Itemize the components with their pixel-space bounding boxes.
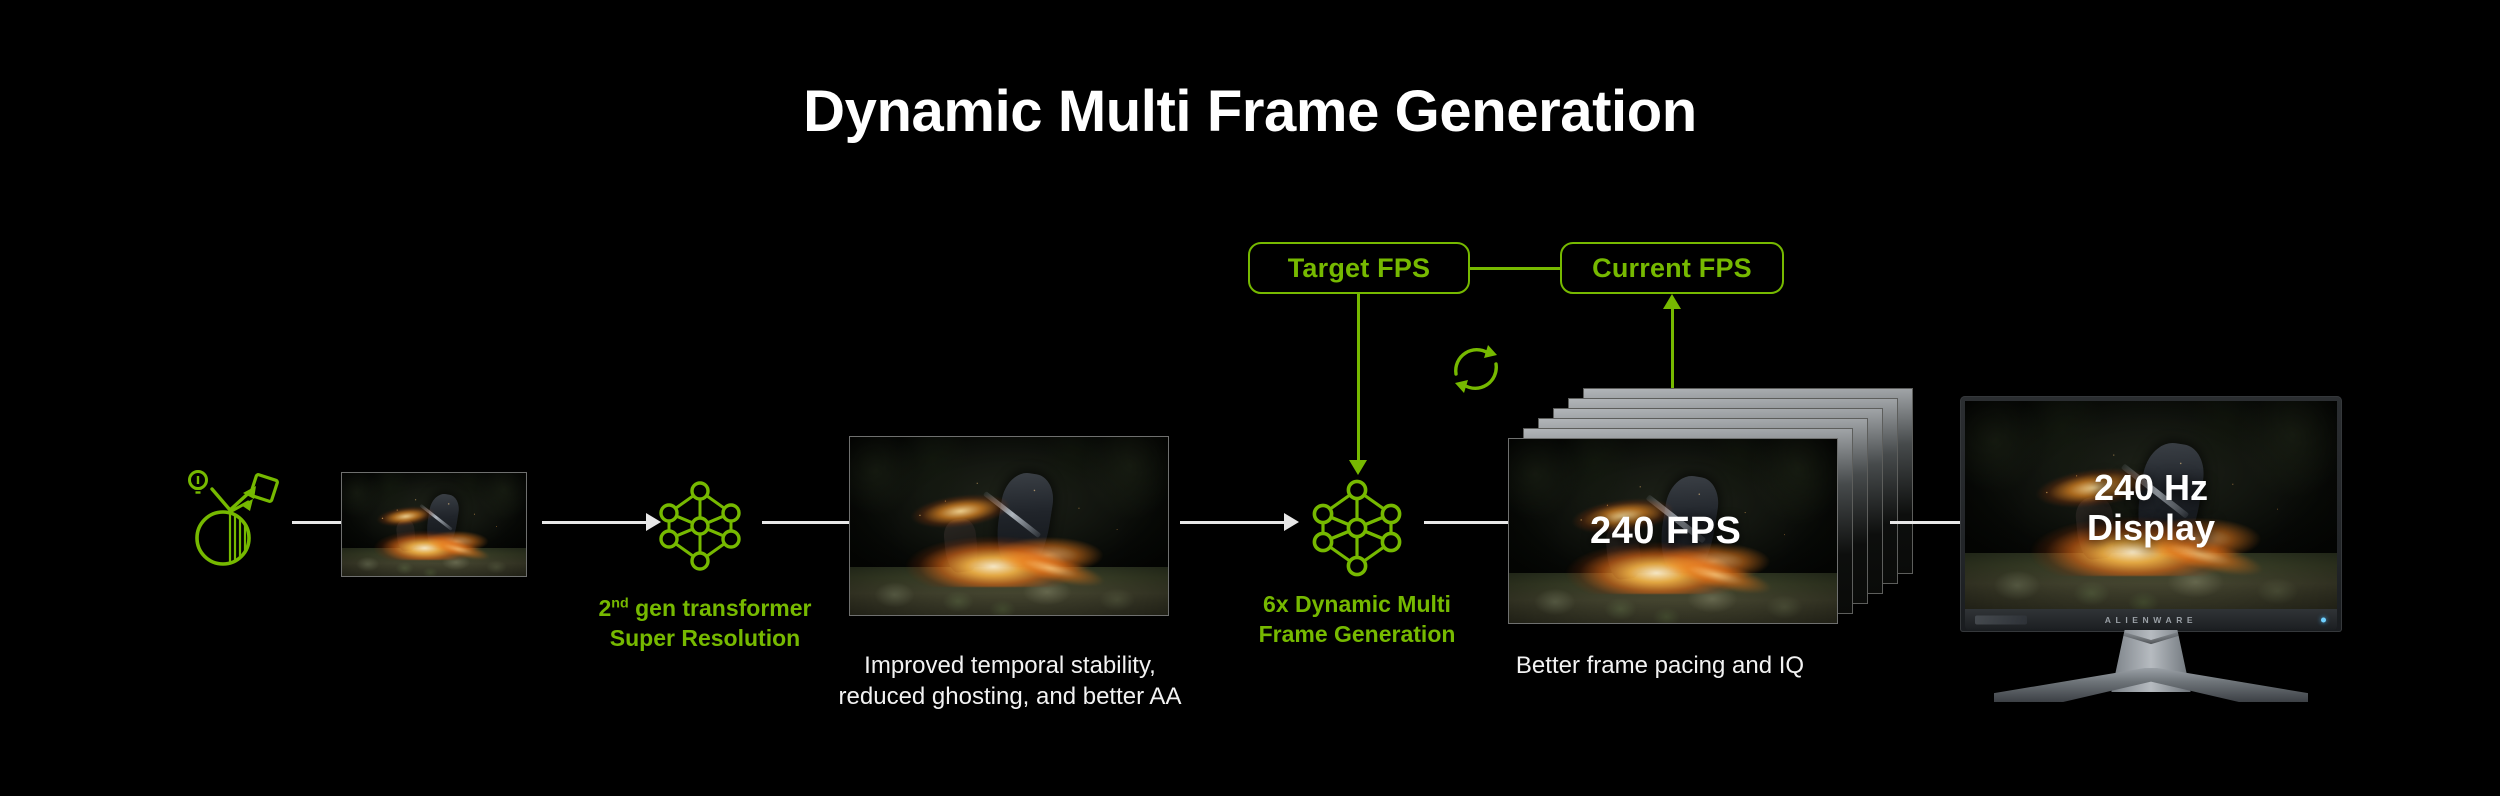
page-title: Dynamic Multi Frame Generation <box>0 82 2500 143</box>
super-resolution-caption: 2nd gen transformer Super Resolution <box>560 594 850 654</box>
monitor-chin: ALIENWARE <box>1965 609 2337 630</box>
target-fps-box[interactable]: Target FPS <box>1248 242 1470 294</box>
fg-caption-line1: 6x Dynamic Multi <box>1222 590 1492 620</box>
current-fps-label: Current FPS <box>1592 253 1752 284</box>
game-scene-large <box>850 437 1168 615</box>
frame-generation-caption: 6x Dynamic Multi Frame Generation <box>1222 590 1492 650</box>
monitor-osd-buttons[interactable] <box>1975 615 2027 624</box>
generated-frame-stack: 240 FPS <box>1508 388 1928 628</box>
super-resolution-benefit-caption: Improved temporal stability, reduced gho… <box>780 650 1240 712</box>
arrow-highres-to-fg-head <box>1284 513 1299 531</box>
arrow-highres-to-fg-line <box>1180 521 1284 524</box>
frame-generation-neural-network-icon <box>1300 476 1414 580</box>
sr-benefit-line2: reduced ghosting, and better AA <box>780 681 1240 712</box>
slide-canvas: Dynamic Multi Frame Generation Target FP… <box>0 0 2500 796</box>
target-fps-down-arrowhead <box>1349 460 1367 475</box>
current-fps-up-line <box>1671 308 1674 388</box>
frame-stack-fps-overlay: 240 FPS <box>1590 510 1741 553</box>
display-monitor: ALIENWARE 240 Hz Display <box>1960 396 2360 696</box>
monitor-display-overlay: 240 Hz Display <box>1960 468 2342 549</box>
arrow-fg-to-stack-line <box>1424 521 1508 524</box>
monitor-brand-label: ALIENWARE <box>2105 615 2197 625</box>
arrow-stack-to-monitor-line <box>1890 521 1970 524</box>
arrow-sr-to-highres-line <box>762 521 850 524</box>
monitor-overlay-line1: 240 Hz <box>1960 468 2342 508</box>
sr-caption-sup: nd <box>611 595 628 611</box>
arrow-lowres-to-sr-line <box>542 521 646 524</box>
fg-benefit-line1: Better frame pacing and IQ <box>1490 650 1830 681</box>
fps-box-connector <box>1470 267 1560 270</box>
monitor-stand-v-accent <box>2117 630 2185 646</box>
super-resolution-neural-network-icon <box>648 478 752 574</box>
target-fps-label: Target FPS <box>1288 253 1431 284</box>
sr-caption-suffix: gen transformer <box>629 595 812 621</box>
sr-caption-prefix: 2 <box>599 595 612 621</box>
current-fps-up-arrowhead <box>1663 294 1681 309</box>
frame-generation-benefit-caption: Better frame pacing and IQ <box>1490 650 1830 681</box>
monitor-power-led <box>2321 617 2326 622</box>
target-fps-down-line <box>1357 294 1360 462</box>
ray-tracing-render-icon <box>182 466 280 568</box>
low-res-game-frame <box>341 472 527 577</box>
game-scene-thumbnail <box>342 473 526 576</box>
current-fps-box[interactable]: Current FPS <box>1560 242 1784 294</box>
monitor-overlay-line2: Display <box>1960 508 2342 548</box>
fg-caption-line2: Frame Generation <box>1222 620 1492 650</box>
high-res-game-frame <box>849 436 1169 616</box>
sr-benefit-line1: Improved temporal stability, <box>780 650 1240 681</box>
refresh-cycle-icon <box>1443 336 1509 402</box>
